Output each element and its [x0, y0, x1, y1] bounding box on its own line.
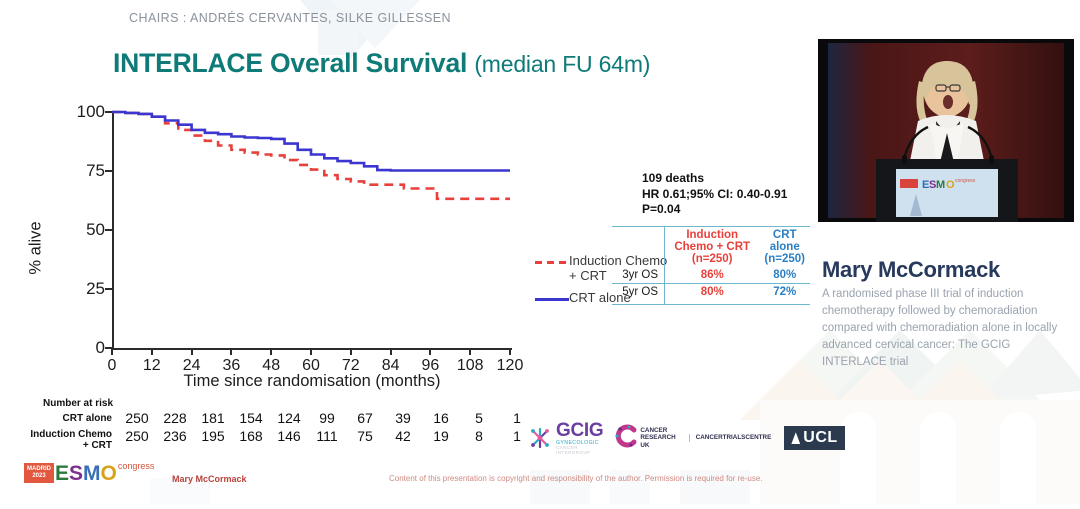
svg-text:M: M	[936, 179, 945, 191]
row-label-3yr: 3yr OS	[612, 267, 665, 284]
header-crt-line2: alone	[759, 241, 810, 253]
legend-swatch-solid-icon	[535, 292, 569, 306]
table-footer-row	[612, 300, 810, 305]
x-tick-label-72: 72	[342, 357, 360, 375]
value-3yr-induction: 86%	[665, 267, 760, 284]
y-tick-mark-100	[105, 111, 112, 113]
svg-text:O: O	[946, 179, 955, 191]
risk-value: 111	[308, 428, 346, 444]
risk-value: 250	[118, 428, 156, 444]
y-tick-mark-75	[105, 170, 112, 172]
risk-label-crt-alone: CRT alone	[14, 413, 112, 424]
video-frame-image: E S M O congress	[818, 39, 1074, 222]
talk-description: A randomised phase III trial of inductio…	[822, 286, 1070, 371]
header-induction-line3: (n=250)	[665, 253, 759, 265]
header-blank-cell	[612, 227, 665, 268]
esmo-congress-logo: MADRID 2023 ESMO congress	[24, 463, 154, 484]
esmo-letter-e: E	[55, 463, 69, 484]
gcig-name: GCIG	[556, 421, 603, 440]
y-axis-label: % alive	[27, 221, 46, 274]
sponsor-logos: GCIG GYNECOLOGIC CANCER INTERGROUP CANCE…	[527, 421, 845, 455]
risk-value: 146	[270, 428, 308, 444]
esmo-congress-text: congress	[118, 461, 155, 471]
esmo-badge-line1: MADRID	[27, 466, 51, 473]
esmo-letter-m: M	[83, 463, 101, 484]
numbers-at-risk-title: Number at risk	[43, 398, 113, 409]
cancer-research-uk-logo: CANCER RESEARCH UK	[612, 424, 675, 453]
x-tick-mark-96	[429, 348, 431, 355]
footer-blank-1	[612, 300, 665, 305]
table-row: 5yr OS 80% 72%	[612, 284, 810, 301]
presentation-slide: CHAIRS : ANDRÉS CERVANTES, SILKE GILLESS…	[0, 0, 812, 504]
x-tick-mark-72	[350, 348, 352, 355]
x-tick-mark-84	[390, 348, 392, 355]
risk-value: 250	[118, 410, 156, 426]
slide-title-sub: (median FU 64m)	[474, 51, 650, 77]
header-induction-line1: Induction	[665, 229, 759, 241]
x-tick-label-96: 96	[421, 357, 439, 375]
x-tick-mark-36	[230, 348, 232, 355]
row-label-5yr: 5yr OS	[612, 284, 665, 301]
value-5yr-crt: 72%	[759, 284, 810, 301]
legend-induction-line2: + CRT	[569, 268, 607, 283]
header-crt-alone: CRT alone (n=250)	[759, 227, 810, 268]
hazard-ratio: HR 0.61;95% CI: 0.40-0.91	[642, 187, 787, 203]
risk-value: 236	[156, 428, 194, 444]
kaplan-meier-chart: % alive Time since randomisation (months…	[40, 98, 540, 398]
gcig-logo-text: GCIG GYNECOLOGIC CANCER INTERGROUP	[556, 421, 603, 455]
y-tick-label-100: 100	[77, 102, 105, 122]
esmo-wordmark: ESMO	[55, 463, 117, 484]
header-induction: Induction Chemo + CRT (n=250)	[665, 227, 760, 268]
speaker-video[interactable]: E S M O congress	[818, 39, 1074, 222]
cruk-line3: UK	[640, 442, 675, 449]
page-title: INTERLACE Overall Survival (median FU 64…	[113, 48, 650, 79]
cruk-line2: RESEARCH	[640, 434, 675, 441]
cruk-c-icon	[612, 424, 638, 453]
speaker-panel: E S M O congress Mary McCormack A random…	[812, 0, 1080, 504]
survival-curves	[112, 112, 510, 348]
statistics-annotation: 109 deaths HR 0.61;95% CI: 0.40-0.91 P=0…	[642, 171, 787, 218]
risk-value: 75	[346, 428, 384, 444]
gcig-logo: GCIG GYNECOLOGIC CANCER INTERGROUP	[527, 421, 603, 455]
x-tick-label-0: 0	[108, 357, 117, 375]
x-tick-label-12: 12	[143, 357, 161, 375]
x-tick-label-108: 108	[457, 357, 484, 375]
ctc-line1: CANCER	[696, 434, 723, 441]
y-tick-label-50: 50	[86, 220, 105, 240]
x-tick-label-36: 36	[222, 357, 240, 375]
cancer-trials-centre-logo: CANCER TRIALS CENTRE	[689, 434, 772, 441]
speaker-name: Mary McCormack	[822, 257, 1000, 283]
risk-values-crt-alone: 2502281811541249967391651	[118, 410, 536, 426]
esmo-letter-o: O	[101, 463, 117, 484]
risk-value: 16	[422, 410, 460, 426]
x-tick-label-120: 120	[497, 357, 524, 375]
ucl-mark-icon	[791, 432, 800, 444]
risk-label-induction-line1: Induction Chemo	[30, 429, 112, 440]
risk-values-induction: 25023619516814611175421981	[118, 428, 536, 444]
risk-value: 154	[232, 410, 270, 426]
risk-row-induction: Induction Chemo + CRT 250236195168146111…	[14, 429, 536, 451]
y-tick-label-75: 75	[86, 161, 105, 181]
y-tick-label-25: 25	[86, 279, 105, 299]
risk-value: 5	[460, 410, 498, 426]
cruk-text: CANCER RESEARCH UK	[640, 427, 675, 449]
gcig-flower-icon	[527, 425, 553, 451]
ctc-line2: TRIALS	[723, 434, 746, 441]
header-crt-line1: CRT	[759, 229, 810, 241]
y-tick-label-0: 0	[96, 338, 105, 358]
x-tick-mark-60	[310, 348, 312, 355]
risk-value: 99	[308, 410, 346, 426]
esmo-letter-s: S	[69, 463, 83, 484]
x-tick-mark-120	[509, 348, 511, 355]
cruk-line1: CANCER	[640, 427, 675, 434]
chairs-line: CHAIRS : ANDRÉS CERVANTES, SILKE GILLESS…	[129, 11, 451, 25]
ctc-line3: CENTRE	[745, 434, 771, 441]
plot-area: 0255075100 01224364860728496108120	[112, 112, 510, 348]
risk-label-induction: Induction Chemo + CRT	[14, 429, 112, 451]
x-tick-label-84: 84	[382, 357, 400, 375]
legend-swatch-dashed-icon	[535, 255, 569, 269]
x-tick-label-48: 48	[262, 357, 280, 375]
esmo-madrid-badge: MADRID 2023	[24, 463, 54, 483]
risk-value: 19	[422, 428, 460, 444]
table-header-row: Induction Chemo + CRT (n=250) CRT alone …	[612, 227, 810, 268]
risk-label-induction-line2: + CRT	[83, 440, 112, 451]
deaths-count: 109 deaths	[642, 171, 787, 187]
gcig-sub2: CANCER INTERGROUP	[556, 446, 603, 455]
results-table: Induction Chemo + CRT (n=250) CRT alone …	[612, 226, 810, 305]
y-tick-mark-50	[105, 229, 112, 231]
risk-value: 195	[194, 428, 232, 444]
risk-value: 8	[460, 428, 498, 444]
footer-blank-3	[759, 300, 810, 305]
risk-value: 124	[270, 410, 308, 426]
risk-value: 42	[384, 428, 422, 444]
x-tick-label-60: 60	[302, 357, 320, 375]
slide-title-main: INTERLACE Overall Survival	[113, 48, 467, 78]
footer-author: Mary McCormack	[172, 474, 247, 484]
risk-row-crt-alone: CRT alone 2502281811541249967391651	[14, 410, 536, 426]
svg-text:congress: congress	[955, 178, 976, 184]
risk-value: 228	[156, 410, 194, 426]
risk-value: 168	[232, 428, 270, 444]
x-tick-mark-24	[191, 348, 193, 355]
footer-copyright: Content of this presentation is copyrigh…	[389, 474, 763, 483]
y-tick-mark-25	[105, 288, 112, 290]
table-row: 3yr OS 86% 80%	[612, 267, 810, 284]
risk-value: 67	[346, 410, 384, 426]
header-crt-line3: (n=250)	[759, 253, 810, 265]
x-tick-mark-12	[151, 348, 153, 355]
x-tick-mark-108	[469, 348, 471, 355]
header-induction-line2: Chemo + CRT	[665, 241, 759, 253]
risk-value: 181	[194, 410, 232, 426]
x-tick-mark-0	[111, 348, 113, 355]
x-tick-mark-48	[270, 348, 272, 355]
x-axis-line	[112, 348, 512, 350]
curve-crt-alone	[112, 112, 510, 171]
risk-value: 39	[384, 410, 422, 426]
p-value: P=0.04	[642, 202, 787, 218]
footer-blank-2	[665, 300, 760, 305]
value-5yr-induction: 80%	[665, 284, 760, 301]
esmo-badge-line2: 2023	[27, 473, 51, 480]
x-tick-label-24: 24	[183, 357, 201, 375]
value-3yr-crt: 80%	[759, 267, 810, 284]
os-results-table: Induction Chemo + CRT (n=250) CRT alone …	[612, 226, 810, 305]
